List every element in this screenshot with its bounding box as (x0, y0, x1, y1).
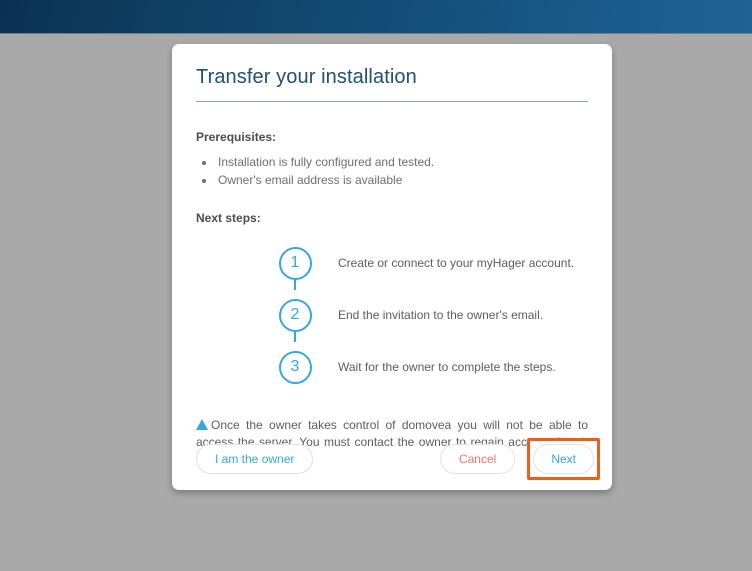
step-row: 2 End the invitation to the owner's emai… (274, 289, 588, 341)
footer-right-actions: Cancel Next (440, 438, 588, 480)
step-marker: 1 (274, 247, 316, 280)
cancel-button[interactable]: Cancel (440, 444, 515, 474)
step-marker: 2 (274, 299, 316, 332)
next-button-focus-highlight: Next (527, 438, 600, 480)
dialog-footer: I am the owner Cancel Next (172, 428, 612, 490)
prerequisites-heading: Prerequisites: (196, 130, 588, 144)
next-steps-heading: Next steps: (196, 211, 588, 225)
step-number-badge: 2 (279, 299, 312, 332)
step-label: Wait for the owner to complete the steps… (316, 360, 556, 374)
next-steps-list: 1 Create or connect to your myHager acco… (196, 237, 588, 393)
list-item: Owner's email address is available (216, 171, 588, 189)
step-number-badge: 1 (279, 247, 312, 280)
i-am-the-owner-button[interactable]: I am the owner (196, 444, 313, 474)
next-button[interactable]: Next (533, 444, 594, 474)
step-marker: 3 (274, 351, 316, 384)
top-banner (0, 0, 752, 34)
step-row: 3 Wait for the owner to complete the ste… (274, 341, 588, 393)
page-title: Transfer your installation (196, 60, 588, 102)
step-label: End the invitation to the owner's email. (316, 308, 543, 322)
transfer-installation-dialog: Transfer your installation Prerequisites… (172, 44, 612, 490)
step-row: 1 Create or connect to your myHager acco… (274, 237, 588, 289)
dialog-content: Transfer your installation Prerequisites… (172, 44, 612, 490)
step-label: Create or connect to your myHager accoun… (316, 256, 574, 270)
prerequisites-list: Installation is fully configured and tes… (196, 153, 588, 189)
list-item: Installation is fully configured and tes… (216, 153, 588, 171)
step-number-badge: 3 (279, 351, 312, 384)
